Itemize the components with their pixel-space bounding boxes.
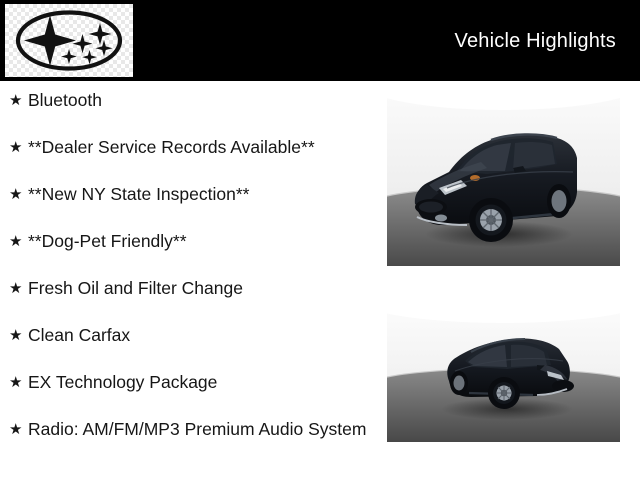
list-item-label: Fresh Oil and Filter Change bbox=[28, 276, 378, 301]
page-title: Vehicle Highlights bbox=[455, 29, 616, 53]
star-bullet-icon: ★ bbox=[9, 88, 22, 113]
list-item-label: Clean Carfax bbox=[28, 323, 378, 348]
list-item: ★ Radio: AM/FM/MP3 Premium Audio System bbox=[0, 417, 378, 443]
star-bullet-icon: ★ bbox=[9, 323, 22, 348]
vehicle-photo-front-right[interactable] bbox=[387, 305, 620, 442]
star-bullet-icon: ★ bbox=[9, 135, 22, 160]
list-item: ★ Fresh Oil and Filter Change bbox=[0, 276, 378, 302]
list-item-label: **Dog-Pet Friendly** bbox=[28, 229, 378, 254]
subaru-logo bbox=[5, 4, 133, 77]
list-item: ★ **Dog-Pet Friendly** bbox=[0, 229, 378, 255]
list-item: ★ EX Technology Package bbox=[0, 370, 378, 396]
star-bullet-icon: ★ bbox=[9, 276, 22, 301]
list-item: ★ **New NY State Inspection** bbox=[0, 182, 378, 208]
page-header: Vehicle Highlights bbox=[0, 0, 640, 81]
vehicle-highlights-list: ★ Bluetooth ★ **Dealer Service Records A… bbox=[0, 88, 378, 464]
star-bullet-icon: ★ bbox=[9, 229, 22, 254]
vehicle-photo-front-three-quarter[interactable] bbox=[387, 88, 620, 266]
list-item-label: **New NY State Inspection** bbox=[28, 182, 378, 207]
list-item: ★ Bluetooth bbox=[0, 88, 378, 114]
list-item: ★ **Dealer Service Records Available** bbox=[0, 135, 378, 161]
list-item-label: Radio: AM/FM/MP3 Premium Audio System bbox=[28, 417, 378, 442]
list-item-label: EX Technology Package bbox=[28, 370, 378, 395]
list-item-label: Bluetooth bbox=[28, 88, 378, 113]
star-bullet-icon: ★ bbox=[9, 182, 22, 207]
content-area: ★ Bluetooth ★ **Dealer Service Records A… bbox=[0, 81, 640, 480]
star-bullet-icon: ★ bbox=[9, 417, 22, 442]
list-item-label: **Dealer Service Records Available** bbox=[28, 135, 378, 160]
list-item: ★ Clean Carfax bbox=[0, 323, 378, 349]
star-bullet-icon: ★ bbox=[9, 370, 22, 395]
